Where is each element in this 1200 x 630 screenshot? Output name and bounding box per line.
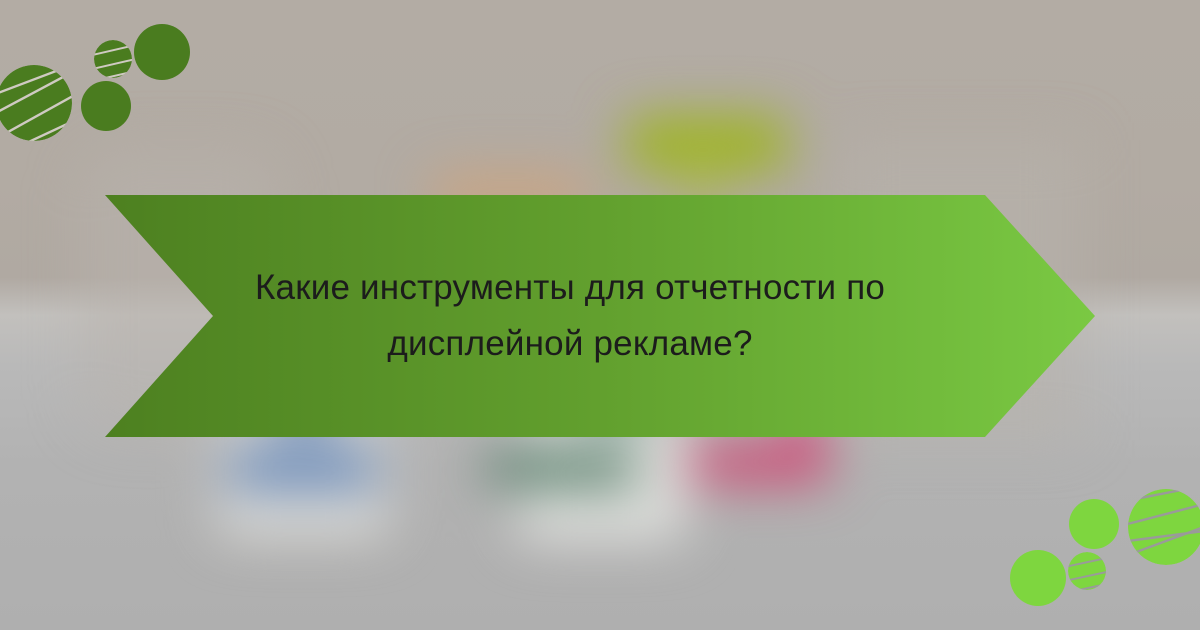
background-label-blue [228,452,378,486]
decor-circle-small-striped [1068,552,1106,590]
decor-circles-top-left [0,0,210,150]
social-card: Какие инструменты для отчетности по дисп… [0,0,1200,630]
decor-circles-bottom-right [990,480,1200,630]
decor-circle-medium-plain [81,81,131,131]
background-label-green [488,452,638,484]
background-label-pink [690,446,830,480]
banner-ribbon [105,195,1095,437]
decor-circle-large-plain [1010,550,1066,606]
decor-circle-large-plain [134,24,190,80]
decor-circle-medium-plain [1069,499,1119,549]
banner-shape [105,195,1095,437]
decor-circle-large-striped [1128,489,1200,565]
